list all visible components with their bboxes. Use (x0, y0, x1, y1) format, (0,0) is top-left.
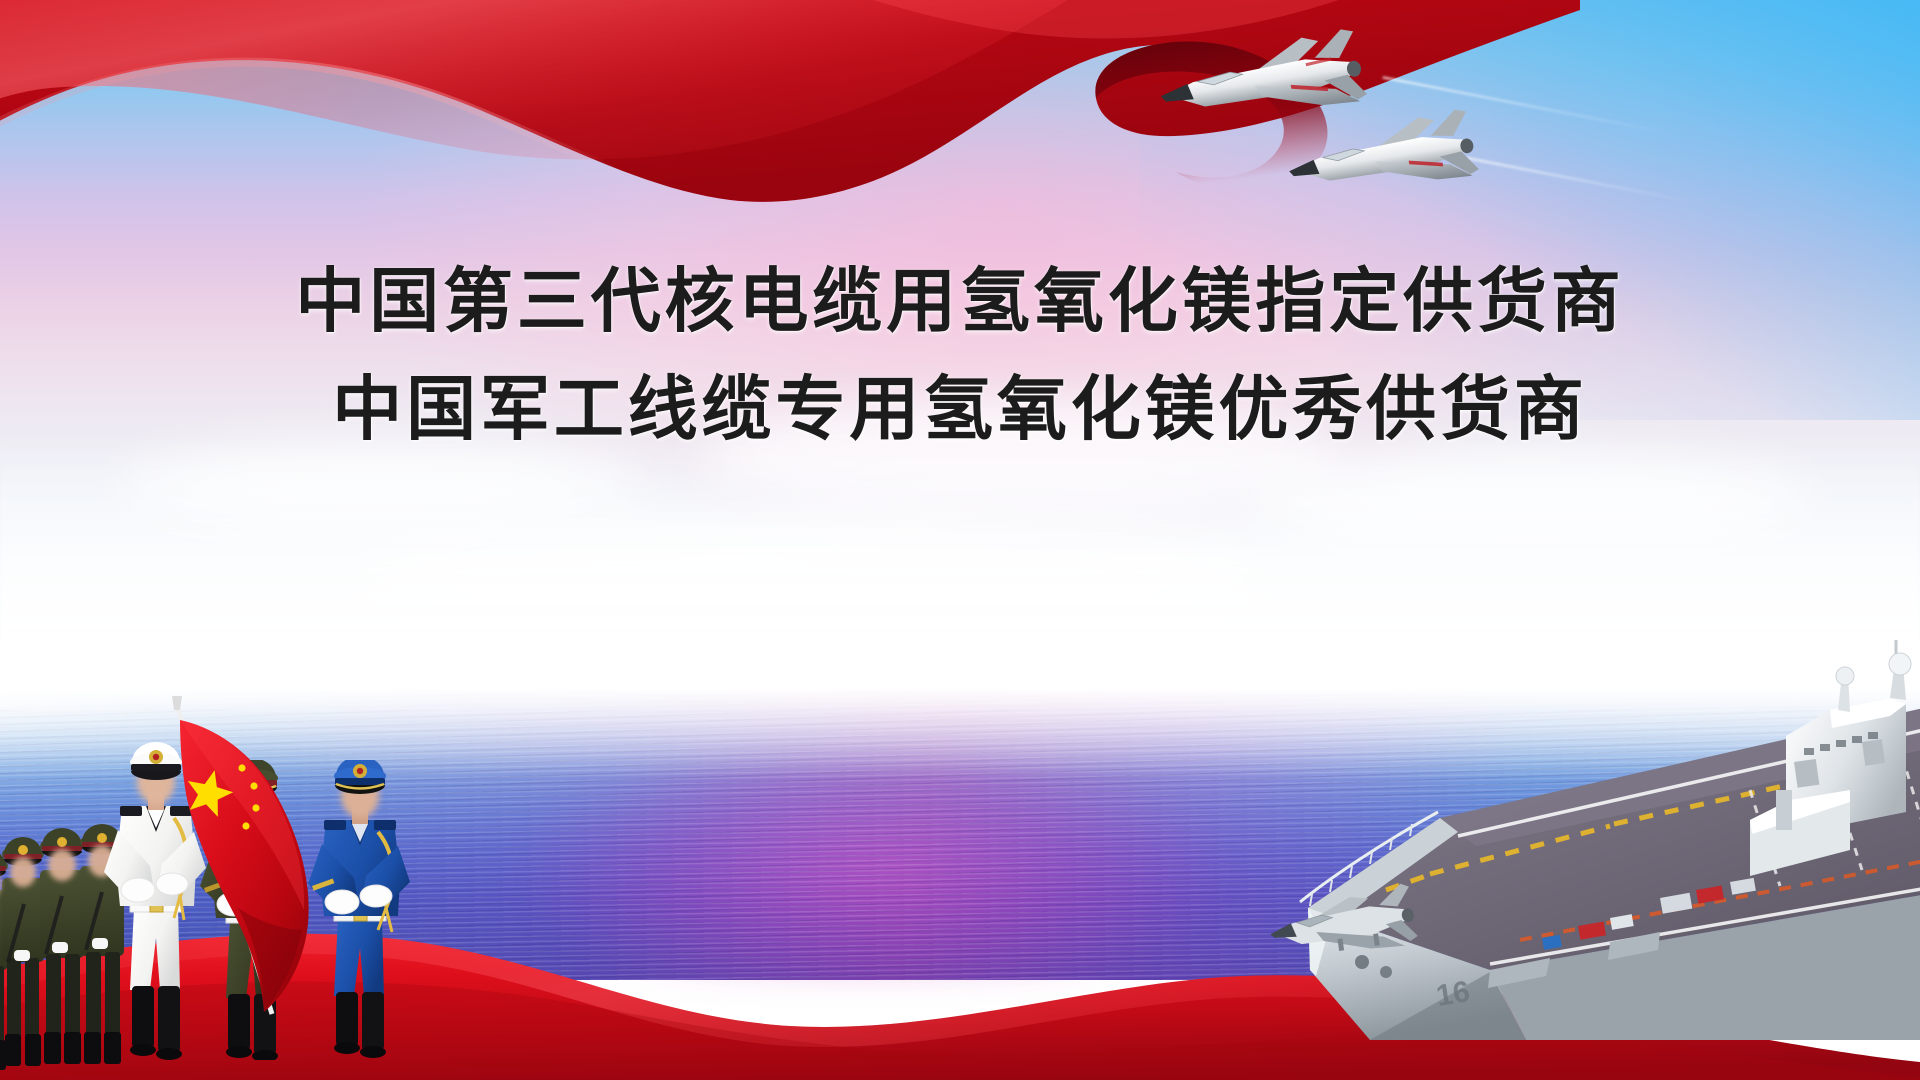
title-line-2: 中国军工线缆专用氢氧化镁优秀供货商 (0, 363, 1920, 457)
hull-number: 16 (1434, 975, 1472, 1013)
aircraft-carrier: 16 (1190, 640, 1920, 1040)
fighter-jet-formation (1130, 20, 1650, 250)
title-block: 中国第三代核电缆用氢氧化镁指定供货商 中国军工线缆专用氢氧化镁优秀供货商 (0, 255, 1920, 457)
national-flag (146, 694, 396, 1024)
promotional-banner: 16 (0, 0, 1920, 1080)
title-line-1: 中国第三代核电缆用氢氧化镁指定供货商 (0, 255, 1920, 349)
honor-guard-group (0, 680, 500, 1060)
